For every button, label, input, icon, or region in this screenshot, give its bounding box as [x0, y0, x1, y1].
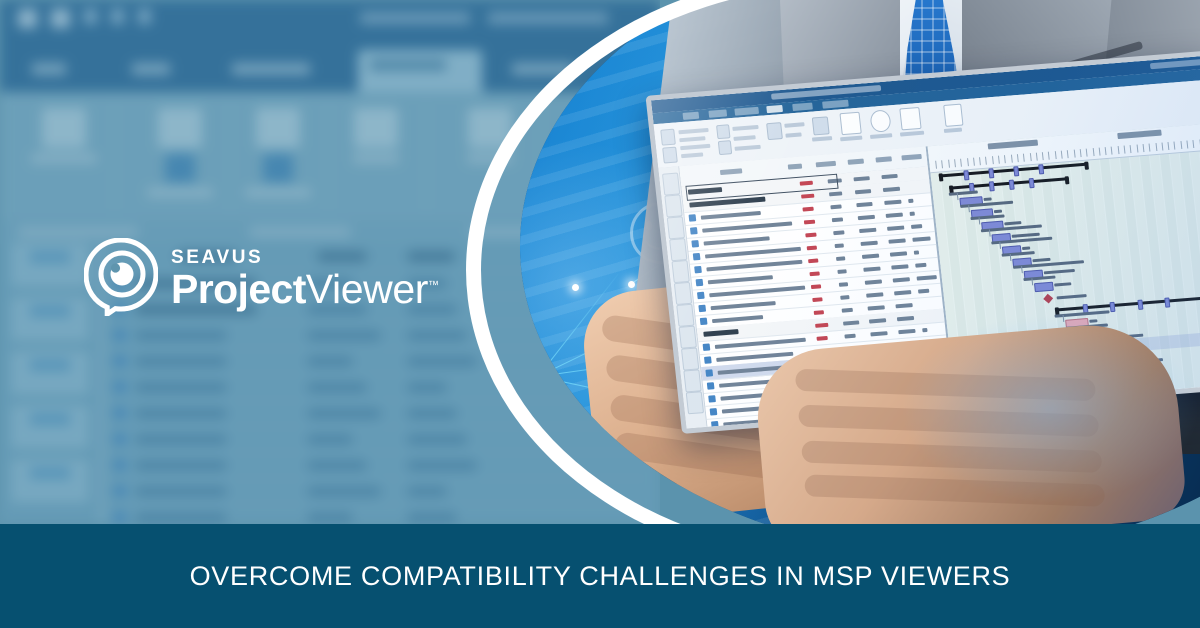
- reports-badge-icon: [263, 154, 293, 182]
- split-view-icon[interactable]: [943, 104, 963, 127]
- view-bar-item[interactable]: [12, 406, 88, 448]
- logo-wordmark: SEAVUS ProjectViewer™: [171, 248, 439, 310]
- customize-icon: [138, 9, 151, 24]
- hand-glow: [900, 314, 1200, 504]
- logo-product-name: ProjectViewer™: [171, 269, 439, 310]
- tab-resource[interactable]: [220, 54, 328, 84]
- view-bar: [10, 244, 90, 524]
- compare-badge-icon: [165, 154, 195, 182]
- view-bar-item[interactable]: [12, 352, 88, 394]
- ribbon-group-view: [14, 102, 115, 210]
- gantt-task-bar: [1034, 282, 1054, 292]
- view-bar-item[interactable]: [12, 460, 88, 502]
- redo-icon: [111, 9, 124, 24]
- seavus-eye-pin-logo-icon: [84, 238, 158, 316]
- logo-product-light: Viewer: [306, 266, 428, 312]
- view-icon[interactable]: [42, 108, 86, 148]
- reports-icon[interactable]: [256, 108, 300, 148]
- export-icon[interactable]: [354, 108, 398, 148]
- ribbon-group-export: [326, 102, 427, 210]
- zoom-icon[interactable]: [869, 109, 891, 132]
- logo-product-bold: Project: [171, 266, 306, 312]
- ribbon-group-reports: [228, 102, 329, 210]
- logo-company-name: SEAVUS: [171, 248, 439, 267]
- seavus-project-viewer-logo: SEAVUS ProjectViewer™: [84, 238, 439, 316]
- undo-icon: [84, 9, 97, 24]
- view-bar-item[interactable]: [12, 244, 88, 286]
- open-icon: [51, 9, 70, 28]
- tab-file[interactable]: [20, 54, 96, 84]
- tab-report[interactable]: [358, 50, 482, 92]
- quick-access-toolbar: [18, 9, 151, 28]
- save-icon: [18, 9, 37, 28]
- logo-trademark: ™: [428, 279, 439, 291]
- zoom-selected-icon[interactable]: [899, 107, 921, 130]
- view-bar-item[interactable]: [12, 298, 88, 340]
- promo-banner-image: SEAVUS ProjectViewer™ OVERCOME COMPATIBI…: [0, 0, 1200, 628]
- tab-task[interactable]: [120, 54, 206, 84]
- headline-text: OVERCOME COMPATIBILITY CHALLENGES IN MSP…: [0, 524, 1200, 628]
- ribbon-group-compare: [130, 102, 231, 210]
- compare-icon[interactable]: [158, 108, 202, 148]
- headline-banner: OVERCOME COMPATIBILITY CHALLENGES IN MSP…: [0, 524, 1200, 628]
